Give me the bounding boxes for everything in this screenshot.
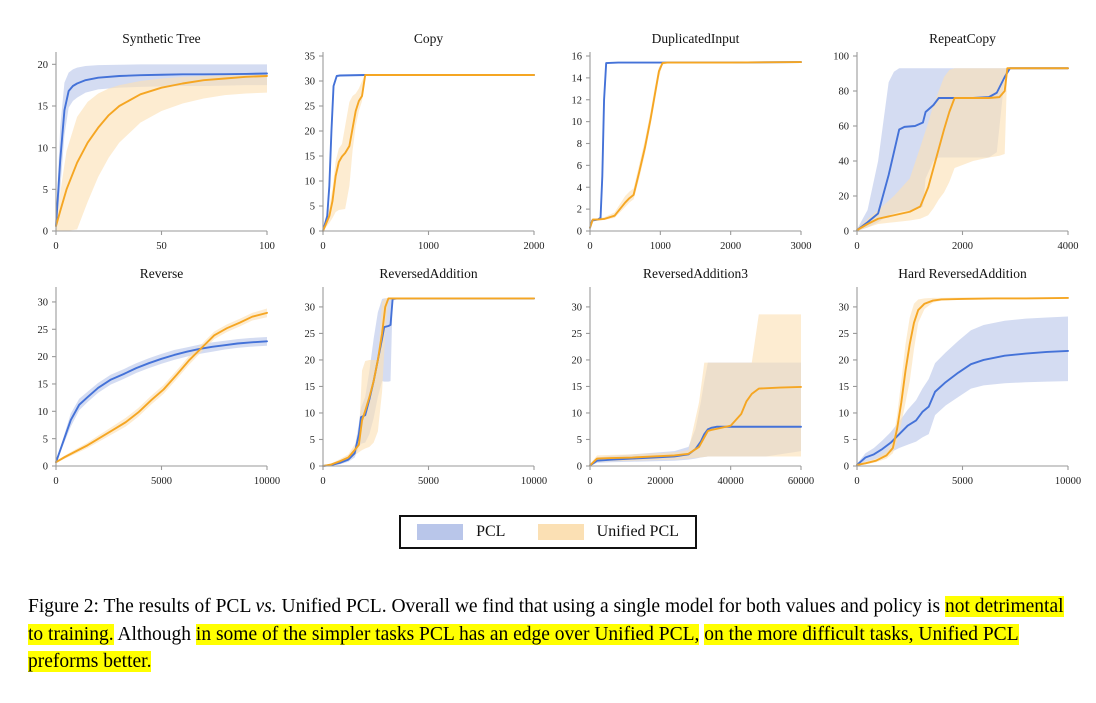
panel-repeatcopy: RepeatCopy020406080100020004000: [815, 30, 1082, 265]
svg-text:Hard ReversedAddition: Hard ReversedAddition: [898, 266, 1027, 281]
svg-text:5: 5: [43, 185, 48, 196]
panel-duplicatedinput: DuplicatedInput0246810121416010002000300…: [548, 30, 815, 265]
panel-reversedaddition: ReversedAddition0510152025300500010000: [281, 265, 548, 500]
svg-text:8: 8: [577, 139, 582, 150]
svg-text:20: 20: [305, 356, 316, 367]
svg-text:30: 30: [305, 303, 316, 314]
svg-text:20000: 20000: [647, 476, 673, 487]
svg-text:30: 30: [839, 303, 850, 314]
caption-segment-1: The results of PCL: [99, 596, 256, 617]
svg-text:10: 10: [572, 409, 583, 420]
svg-text:25: 25: [839, 329, 850, 340]
svg-text:40: 40: [839, 157, 850, 168]
svg-text:35: 35: [305, 52, 316, 63]
svg-text:15: 15: [572, 382, 583, 393]
svg-text:6: 6: [577, 161, 582, 172]
svg-text:15: 15: [305, 152, 316, 163]
svg-text:0: 0: [320, 476, 325, 487]
svg-text:Reverse: Reverse: [140, 266, 183, 281]
svg-text:30: 30: [305, 77, 316, 88]
svg-text:5000: 5000: [952, 476, 973, 487]
svg-text:0: 0: [587, 476, 592, 487]
caption-highlight-2: in some of the simpler tasks PCL has an …: [196, 624, 700, 645]
svg-text:10: 10: [38, 407, 49, 418]
svg-text:25: 25: [38, 325, 49, 336]
figure-caption: Figure 2: The results of PCL vs. Unified…: [28, 593, 1068, 676]
caption-italic-vs: vs.: [256, 596, 277, 617]
chart-legend: PCL Unified PCL: [399, 515, 697, 549]
svg-text:Copy: Copy: [414, 31, 444, 46]
svg-text:1000: 1000: [418, 241, 439, 252]
svg-text:25: 25: [305, 329, 316, 340]
legend-entry-unified-pcl: Unified PCL: [538, 523, 679, 541]
svg-text:0: 0: [43, 227, 48, 238]
svg-text:80: 80: [839, 87, 850, 98]
svg-text:100: 100: [259, 241, 275, 252]
svg-text:5000: 5000: [151, 476, 172, 487]
svg-text:16: 16: [572, 52, 583, 63]
svg-text:20: 20: [305, 127, 316, 138]
svg-text:4: 4: [577, 183, 583, 194]
panel-reverse: Reverse0510152025300500010000: [14, 265, 281, 500]
svg-text:14: 14: [572, 73, 583, 84]
svg-text:10000: 10000: [521, 476, 547, 487]
svg-text:RepeatCopy: RepeatCopy: [929, 31, 996, 46]
svg-text:10: 10: [305, 177, 316, 188]
svg-text:ReversedAddition: ReversedAddition: [379, 266, 477, 281]
panel-hard-reversedaddition: Hard ReversedAddition0510152025300500010…: [815, 265, 1082, 500]
svg-text:10: 10: [38, 143, 49, 154]
panel-synthetic-tree: Synthetic Tree05101520050100: [14, 30, 281, 265]
legend-swatch-unified-pcl: [538, 524, 584, 540]
svg-text:0: 0: [43, 462, 48, 473]
svg-text:100: 100: [833, 52, 849, 63]
svg-text:5000: 5000: [418, 476, 439, 487]
subplot-grid: Synthetic Tree05101520050100 Copy0510152…: [14, 30, 1082, 500]
svg-text:0: 0: [587, 241, 592, 252]
svg-text:15: 15: [839, 382, 850, 393]
svg-text:12: 12: [572, 95, 583, 106]
svg-text:5: 5: [310, 202, 315, 213]
svg-text:2000: 2000: [524, 241, 545, 252]
svg-text:15: 15: [38, 380, 49, 391]
svg-text:2000: 2000: [952, 241, 973, 252]
svg-text:0: 0: [310, 462, 315, 473]
svg-text:15: 15: [38, 102, 49, 113]
svg-text:2: 2: [577, 205, 582, 216]
svg-text:60: 60: [839, 122, 850, 133]
svg-text:20: 20: [839, 356, 850, 367]
svg-text:ReversedAddition3: ReversedAddition3: [643, 266, 748, 281]
svg-text:0: 0: [53, 476, 58, 487]
svg-text:0: 0: [854, 241, 859, 252]
svg-text:10: 10: [839, 409, 850, 420]
svg-text:10: 10: [572, 117, 583, 128]
legend-label-pcl: PCL: [476, 523, 505, 541]
svg-text:0: 0: [320, 241, 325, 252]
svg-text:3000: 3000: [791, 241, 812, 252]
svg-text:5: 5: [577, 435, 582, 446]
svg-text:25: 25: [572, 329, 583, 340]
svg-text:0: 0: [844, 227, 849, 238]
svg-text:60000: 60000: [788, 476, 814, 487]
svg-text:15: 15: [305, 382, 316, 393]
svg-text:DuplicatedInput: DuplicatedInput: [652, 31, 740, 46]
legend-swatch-pcl: [417, 524, 463, 540]
svg-text:2000: 2000: [720, 241, 741, 252]
svg-text:0: 0: [577, 462, 582, 473]
svg-text:5: 5: [43, 434, 48, 445]
figure-2: Synthetic Tree05101520050100 Copy0510152…: [0, 0, 1096, 580]
legend-label-unified-pcl: Unified PCL: [597, 523, 679, 541]
svg-text:4000: 4000: [1058, 241, 1079, 252]
svg-text:20: 20: [839, 192, 850, 203]
svg-text:25: 25: [305, 102, 316, 113]
svg-text:40000: 40000: [718, 476, 744, 487]
panel-copy: Copy05101520253035010002000: [281, 30, 548, 265]
svg-text:10000: 10000: [1055, 476, 1081, 487]
svg-text:20: 20: [572, 356, 583, 367]
legend-entry-pcl: PCL: [417, 523, 505, 541]
svg-text:0: 0: [844, 462, 849, 473]
svg-text:Synthetic Tree: Synthetic Tree: [122, 31, 200, 46]
svg-text:0: 0: [577, 227, 582, 238]
svg-text:0: 0: [310, 227, 315, 238]
caption-figure-number: Figure 2:: [28, 596, 99, 617]
panel-reversedaddition3: ReversedAddition305101520253002000040000…: [548, 265, 815, 500]
svg-text:1000: 1000: [650, 241, 671, 252]
svg-text:10: 10: [305, 409, 316, 420]
caption-segment-2: Unified PCL. Overall we find that using …: [277, 596, 945, 617]
svg-text:0: 0: [53, 241, 58, 252]
svg-text:10000: 10000: [254, 476, 280, 487]
svg-text:30: 30: [572, 303, 583, 314]
svg-text:50: 50: [156, 241, 167, 252]
svg-text:30: 30: [38, 298, 49, 309]
caption-segment-3: Although: [114, 624, 196, 645]
svg-text:5: 5: [844, 435, 849, 446]
svg-text:5: 5: [310, 435, 315, 446]
svg-text:0: 0: [854, 476, 859, 487]
svg-text:20: 20: [38, 60, 49, 71]
svg-text:20: 20: [38, 352, 49, 363]
